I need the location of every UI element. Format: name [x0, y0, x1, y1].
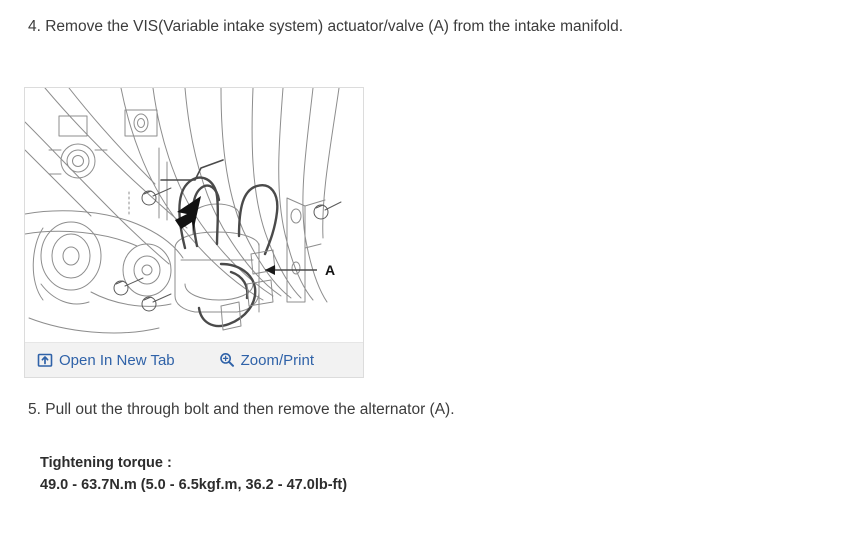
- step-5-instruction: 5. Pull out the through bolt and then re…: [28, 400, 455, 420]
- callout-label-a: A: [325, 262, 335, 278]
- callout-leader: [265, 265, 317, 275]
- figure-action-bar: Open In New Tab Zoom/Print: [25, 342, 363, 377]
- step-4-instruction: 4. Remove the VIS(Variable intake system…: [28, 17, 623, 37]
- figure-panel: A Open In New Tab: [24, 87, 364, 378]
- open-in-new-tab-label: Open In New Tab: [59, 352, 175, 369]
- document-page: 4. Remove the VIS(Variable intake system…: [0, 0, 855, 543]
- tightening-torque-value: 49.0 - 63.7N.m (5.0 - 6.5kgf.m, 36.2 - 4…: [40, 474, 347, 496]
- tightening-torque-label: Tightening torque :: [40, 452, 347, 474]
- technical-illustration: A: [25, 88, 363, 343]
- zoom-print-button[interactable]: Zoom/Print: [219, 352, 314, 369]
- open-in-new-tab-button[interactable]: Open In New Tab: [37, 352, 175, 369]
- zoom-in-magnifier-icon: [219, 352, 235, 368]
- tightening-torque-block: Tightening torque : 49.0 - 63.7N.m (5.0 …: [40, 452, 347, 496]
- zoom-print-label: Zoom/Print: [241, 352, 314, 369]
- open-in-new-tab-icon: [37, 352, 53, 368]
